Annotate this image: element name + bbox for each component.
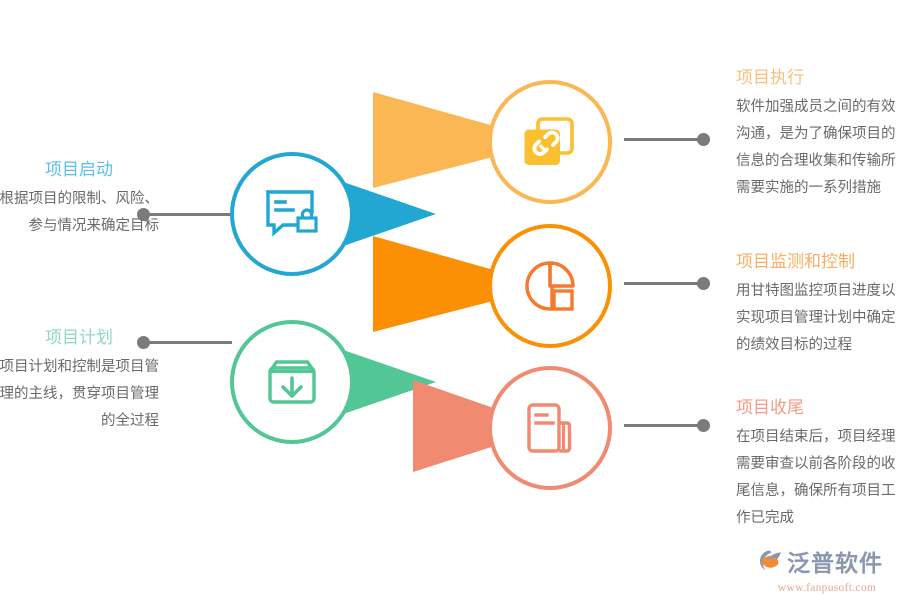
link-copy-icon <box>488 80 612 204</box>
infographic-canvas: 项目启动 根据项目的限制、风险、参与情况来确定目标 项目计划 项目计划和控制是项… <box>0 0 900 600</box>
node-body-monitor: 用甘特图监控项目进度以实现项目管理计划中确定的绩效目标的过程 <box>736 278 898 359</box>
node-title-execute: 项目执行 <box>736 66 898 90</box>
text-block-plan: 项目计划 项目计划和控制是项目管理的主线，贯穿项目管理的全过程 <box>0 326 159 435</box>
brand-logo: 泛普软件 www.fanpusoft.com <box>757 548 897 594</box>
message-lock-icon <box>230 152 354 276</box>
node-plan[interactable] <box>230 320 354 444</box>
connector-dot-execute <box>697 133 710 146</box>
text-block-execute: 项目执行 软件加强成员之间的有效沟通，是为了确保项目的信息的合理收集和传输所需要… <box>736 66 898 202</box>
node-execute[interactable] <box>488 80 612 204</box>
logo-url: www.fanpusoft.com <box>757 581 897 595</box>
box-download-icon <box>230 320 354 444</box>
text-block-monitor: 项目监测和控制 用甘特图监控项目进度以实现项目管理计划中确定的绩效目标的过程 <box>736 250 898 359</box>
node-title-plan: 项目计划 <box>0 326 159 350</box>
pie-chart-square-icon <box>488 224 612 348</box>
node-title-initiation: 项目启动 <box>0 158 159 182</box>
document-bookmark-icon <box>488 366 612 490</box>
logo-row: 泛普软件 <box>757 548 897 580</box>
node-close[interactable] <box>488 366 612 490</box>
connector-dot-close <box>697 419 710 432</box>
node-title-monitor: 项目监测和控制 <box>736 250 898 274</box>
swirl-logo-icon <box>757 548 784 580</box>
node-initiation[interactable] <box>230 152 354 276</box>
logo-name: 泛普软件 <box>787 551 883 577</box>
text-block-close: 项目收尾 在项目结束后，项目经理需要审查以前各阶段的收尾信息，确保所有项目工作已… <box>736 396 898 532</box>
node-body-plan: 项目计划和控制是项目管理的主线，贯穿项目管理的全过程 <box>0 354 159 435</box>
node-body-initiation: 根据项目的限制、风险、参与情况来确定目标 <box>0 186 159 240</box>
node-body-execute: 软件加强成员之间的有效沟通，是为了确保项目的信息的合理收集和传输所需要实施的一系… <box>736 94 898 202</box>
node-body-close: 在项目结束后，项目经理需要审查以前各阶段的收尾信息，确保所有项目工作已完成 <box>736 424 898 532</box>
node-title-close: 项目收尾 <box>736 396 898 420</box>
connector-dot-monitor <box>697 277 710 290</box>
node-monitor[interactable] <box>488 224 612 348</box>
text-block-initiation: 项目启动 根据项目的限制、风险、参与情况来确定目标 <box>0 158 159 240</box>
